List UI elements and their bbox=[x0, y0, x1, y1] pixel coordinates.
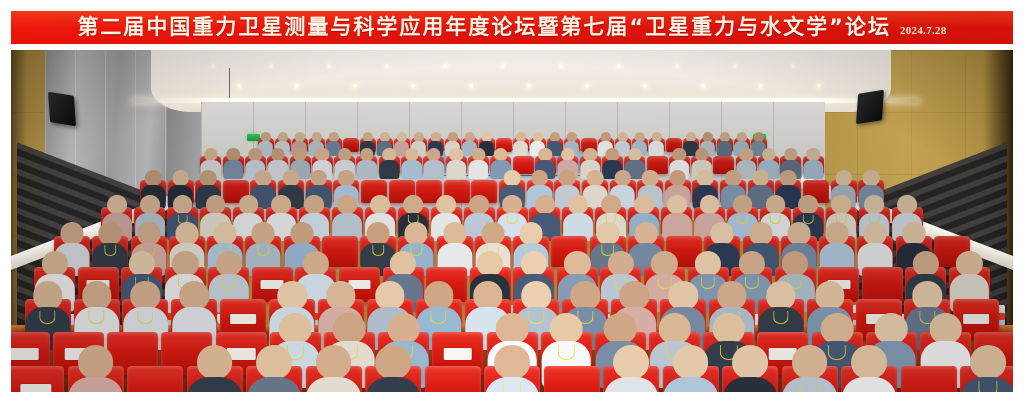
person-head bbox=[239, 195, 259, 214]
person-head bbox=[752, 170, 769, 186]
audience-member bbox=[673, 148, 686, 161]
audience-member bbox=[180, 281, 209, 309]
auditorium-seat[interactable] bbox=[603, 366, 659, 392]
person-head bbox=[875, 313, 908, 344]
audience-member bbox=[766, 281, 795, 309]
audience-member bbox=[807, 148, 820, 161]
audience-member bbox=[379, 132, 389, 142]
auditorium-seat[interactable] bbox=[803, 156, 824, 174]
audience-member bbox=[260, 132, 270, 142]
audience-member bbox=[835, 170, 852, 186]
audience-member bbox=[897, 195, 917, 214]
person-torso bbox=[649, 141, 665, 156]
auditorium-seat[interactable] bbox=[661, 207, 692, 234]
audience-member bbox=[137, 222, 160, 244]
person-head bbox=[792, 345, 828, 379]
audience-member bbox=[956, 251, 982, 276]
audience-member bbox=[387, 313, 420, 344]
audience-member bbox=[752, 170, 769, 186]
lanyard bbox=[528, 311, 544, 324]
person-head bbox=[99, 222, 122, 244]
auditorium-seat[interactable] bbox=[332, 207, 363, 234]
person-head bbox=[740, 148, 753, 161]
person-head bbox=[326, 281, 355, 309]
person-head bbox=[290, 222, 313, 244]
person-head bbox=[200, 170, 217, 186]
audience-member bbox=[303, 251, 329, 276]
person-head bbox=[956, 251, 982, 276]
audience-member bbox=[669, 170, 686, 186]
audience-member bbox=[226, 148, 239, 161]
person-head bbox=[481, 222, 504, 244]
audience-member bbox=[370, 195, 390, 214]
person-head bbox=[41, 251, 67, 276]
auditorium-seat[interactable] bbox=[127, 366, 183, 392]
audience-member bbox=[738, 251, 764, 276]
auditorium-seat[interactable] bbox=[306, 366, 362, 392]
auditorium-seat[interactable] bbox=[960, 366, 1013, 392]
person-head bbox=[539, 148, 552, 161]
audience-member bbox=[667, 195, 687, 214]
auditorium-seat[interactable] bbox=[513, 138, 529, 152]
person-head bbox=[733, 195, 753, 214]
auditorium-seat[interactable] bbox=[819, 236, 855, 267]
audience-member bbox=[634, 195, 654, 214]
audience-member bbox=[436, 195, 456, 214]
person-head bbox=[279, 313, 312, 344]
person-head bbox=[131, 281, 160, 309]
audience-member bbox=[310, 170, 327, 186]
lanyard bbox=[800, 381, 819, 392]
audience-member bbox=[561, 148, 574, 161]
person-head bbox=[370, 195, 390, 214]
audience-member bbox=[515, 132, 525, 142]
audience-member bbox=[712, 313, 745, 344]
auditorium-seat[interactable] bbox=[484, 366, 540, 392]
audience-member bbox=[464, 132, 474, 142]
person-head bbox=[864, 222, 887, 244]
audience-member bbox=[200, 170, 217, 186]
person-head bbox=[613, 345, 649, 379]
banner-date: 2024.7.28 bbox=[900, 25, 947, 37]
audience-member bbox=[619, 281, 648, 309]
auditorium-seat[interactable] bbox=[722, 366, 778, 392]
person-head bbox=[427, 148, 440, 161]
person-head bbox=[571, 281, 600, 309]
audience-member bbox=[792, 345, 828, 379]
person-head bbox=[619, 281, 648, 309]
lanyard bbox=[978, 381, 997, 392]
person-head bbox=[712, 313, 745, 344]
audience-member bbox=[634, 222, 657, 244]
audience-member bbox=[504, 170, 521, 186]
auditorium-seat[interactable] bbox=[901, 366, 957, 392]
person-head bbox=[502, 195, 522, 214]
person-head bbox=[559, 170, 576, 186]
audience-member bbox=[337, 195, 357, 214]
downlight bbox=[701, 84, 705, 88]
downlight bbox=[295, 84, 299, 88]
person-head bbox=[477, 251, 503, 276]
person-head bbox=[897, 195, 917, 214]
audience-member bbox=[469, 195, 489, 214]
auditorium-seat[interactable] bbox=[446, 156, 467, 174]
audience-member bbox=[815, 281, 844, 309]
audience-member bbox=[596, 222, 619, 244]
downlight bbox=[559, 64, 563, 68]
audience-member bbox=[383, 148, 396, 161]
audience-member bbox=[851, 345, 887, 379]
auditorium-seat[interactable] bbox=[562, 207, 593, 234]
downlight bbox=[237, 84, 241, 88]
person-head bbox=[303, 251, 329, 276]
person-head bbox=[216, 251, 242, 276]
audience-member bbox=[571, 281, 600, 309]
downlight bbox=[385, 64, 389, 68]
audience-member bbox=[360, 148, 373, 161]
audience-member bbox=[367, 222, 390, 244]
seat-number-tag bbox=[444, 348, 473, 359]
auditorium-seat[interactable] bbox=[11, 366, 64, 392]
person-head bbox=[214, 222, 237, 244]
audience-member bbox=[601, 195, 621, 214]
person-head bbox=[494, 345, 530, 379]
audience-member bbox=[702, 132, 712, 142]
audience-member bbox=[206, 195, 226, 214]
auditorium-seat[interactable] bbox=[649, 138, 665, 152]
audience-member bbox=[719, 132, 729, 142]
lanyard bbox=[89, 311, 105, 324]
audience-member bbox=[78, 345, 114, 379]
audience-member bbox=[780, 170, 797, 186]
audience-member bbox=[784, 148, 797, 161]
person-torso bbox=[366, 377, 420, 392]
audience-member bbox=[766, 195, 786, 214]
person-head bbox=[249, 148, 262, 161]
downlight bbox=[733, 64, 737, 68]
person-head bbox=[338, 170, 355, 186]
person-head bbox=[604, 313, 637, 344]
seat-row bbox=[11, 267, 1013, 302]
person-head bbox=[137, 222, 160, 244]
person-head bbox=[175, 222, 198, 244]
person-head bbox=[33, 281, 62, 309]
auditorium-seat[interactable] bbox=[857, 236, 893, 267]
audience-member bbox=[481, 222, 504, 244]
audience-member bbox=[375, 345, 411, 379]
audience-member bbox=[481, 132, 491, 142]
audience-member bbox=[447, 132, 457, 142]
audience-member bbox=[140, 195, 160, 214]
person-head bbox=[277, 281, 306, 309]
auditorium-seat[interactable] bbox=[379, 156, 400, 174]
person-head bbox=[383, 148, 396, 161]
lanyard bbox=[507, 215, 518, 224]
auditorium-seat[interactable] bbox=[423, 156, 444, 174]
audience-member bbox=[214, 222, 237, 244]
person-head bbox=[140, 195, 160, 214]
person-head bbox=[375, 345, 411, 379]
person-head bbox=[568, 195, 588, 214]
person-head bbox=[628, 148, 641, 161]
audience-member bbox=[617, 132, 627, 142]
audience-member bbox=[787, 222, 810, 244]
audience-member bbox=[328, 132, 338, 142]
audience-member bbox=[863, 170, 880, 186]
auditorium-seat[interactable] bbox=[717, 138, 733, 152]
auditorium-seat[interactable] bbox=[949, 267, 990, 302]
auditorium-seat[interactable] bbox=[187, 366, 243, 392]
auditorium-seat[interactable] bbox=[401, 156, 422, 174]
audience-member bbox=[326, 281, 355, 309]
person-head bbox=[338, 148, 351, 161]
banner-title: 第二届中国重力卫星测量与科学应用年度论坛暨第七届“卫星重力与水文学”论坛 bbox=[77, 17, 891, 38]
audience-member bbox=[700, 195, 720, 214]
audience-member bbox=[762, 148, 775, 161]
person-torso bbox=[468, 160, 488, 179]
audience-member bbox=[427, 148, 440, 161]
person-head bbox=[180, 281, 209, 309]
audience-member bbox=[733, 195, 753, 214]
person-head bbox=[520, 222, 543, 244]
person-head bbox=[725, 170, 742, 186]
downlight bbox=[817, 84, 821, 88]
person-head bbox=[405, 148, 418, 161]
audience-member bbox=[559, 170, 576, 186]
person-head bbox=[596, 222, 619, 244]
person-head bbox=[436, 195, 456, 214]
auditorium-seat[interactable] bbox=[425, 366, 481, 392]
audience-member bbox=[740, 148, 753, 161]
audience-member bbox=[216, 251, 242, 276]
person-head bbox=[522, 281, 551, 309]
auditorium-seat[interactable] bbox=[782, 366, 838, 392]
seat-row bbox=[11, 366, 1013, 392]
person-torso bbox=[604, 377, 658, 392]
downlight bbox=[759, 84, 763, 88]
auditorium-seat[interactable] bbox=[468, 156, 489, 174]
person-head bbox=[913, 281, 942, 309]
person-head bbox=[333, 313, 366, 344]
audience-member bbox=[521, 251, 547, 276]
downlight bbox=[527, 84, 531, 88]
audience-member bbox=[472, 148, 485, 161]
person-torso bbox=[68, 377, 122, 392]
downlight bbox=[211, 64, 215, 68]
audience-member bbox=[294, 132, 304, 142]
person-torso bbox=[446, 160, 466, 179]
person-head bbox=[913, 251, 939, 276]
audience-member bbox=[362, 132, 372, 142]
person-head bbox=[61, 222, 84, 244]
person-head bbox=[561, 148, 574, 161]
audience-member bbox=[197, 345, 233, 379]
audience-member bbox=[443, 222, 466, 244]
person-head bbox=[732, 345, 768, 379]
audience-member bbox=[520, 222, 543, 244]
person-head bbox=[807, 148, 820, 161]
audience-member bbox=[531, 170, 548, 186]
downlight bbox=[353, 84, 357, 88]
audience-member bbox=[749, 222, 772, 244]
person-head bbox=[608, 251, 634, 276]
audience-member bbox=[413, 132, 423, 142]
person-head bbox=[658, 313, 691, 344]
auditorium-seat[interactable] bbox=[356, 156, 377, 174]
auditorium-seat[interactable] bbox=[92, 236, 128, 267]
audience-member bbox=[604, 313, 637, 344]
audience-member bbox=[272, 195, 292, 214]
audience-member bbox=[970, 345, 1006, 379]
person-torso bbox=[223, 160, 243, 179]
person-head bbox=[583, 148, 596, 161]
audience-member bbox=[502, 195, 522, 214]
person-head bbox=[316, 345, 352, 379]
person-head bbox=[337, 195, 357, 214]
person-head bbox=[614, 170, 631, 186]
audience-member bbox=[913, 281, 942, 309]
audience-member bbox=[522, 281, 551, 309]
auditorium-seat[interactable] bbox=[208, 267, 249, 302]
audience-member bbox=[606, 148, 619, 161]
audience-member bbox=[658, 313, 691, 344]
audience-member bbox=[33, 281, 62, 309]
seat-row bbox=[11, 236, 1013, 267]
audience-member bbox=[239, 195, 259, 214]
audience-member bbox=[831, 195, 851, 214]
audience-member bbox=[107, 195, 127, 214]
audience-member bbox=[256, 345, 292, 379]
person-head bbox=[673, 345, 709, 379]
downlight bbox=[585, 84, 589, 88]
person-head bbox=[469, 195, 489, 214]
audience-member bbox=[277, 132, 287, 142]
audience-member bbox=[673, 345, 709, 379]
person-torso bbox=[717, 141, 733, 156]
audience-member bbox=[277, 281, 306, 309]
person-head bbox=[700, 195, 720, 214]
person-head bbox=[831, 195, 851, 214]
audience-member bbox=[405, 148, 418, 161]
person-head bbox=[564, 251, 590, 276]
downlight bbox=[643, 84, 647, 88]
audience-member bbox=[430, 132, 440, 142]
audience-member bbox=[614, 170, 631, 186]
person-head bbox=[78, 345, 114, 379]
person-head bbox=[668, 281, 697, 309]
person-torso bbox=[723, 377, 777, 392]
person-head bbox=[271, 148, 284, 161]
audience-member bbox=[799, 195, 819, 214]
auditorium-seat[interactable] bbox=[663, 366, 719, 392]
lanyard bbox=[737, 215, 748, 224]
audience-member bbox=[651, 251, 677, 276]
downlight bbox=[411, 84, 415, 88]
person-head bbox=[172, 170, 189, 186]
audience-member bbox=[587, 170, 604, 186]
audience-member bbox=[736, 132, 746, 142]
audience-member bbox=[732, 345, 768, 379]
wall-speaker-left bbox=[48, 92, 76, 127]
person-head bbox=[145, 170, 162, 186]
auditorium-seat[interactable] bbox=[68, 366, 124, 392]
person-head bbox=[815, 281, 844, 309]
lanyard bbox=[502, 381, 521, 392]
audience-member bbox=[390, 251, 416, 276]
auditorium-seat[interactable] bbox=[246, 366, 302, 392]
audience-member bbox=[583, 148, 596, 161]
audience-member bbox=[875, 313, 908, 344]
person-head bbox=[864, 195, 884, 214]
person-head bbox=[851, 345, 887, 379]
auditorium-seat[interactable] bbox=[365, 366, 421, 392]
audience-member bbox=[249, 148, 262, 161]
audience-member bbox=[316, 148, 329, 161]
person-head bbox=[82, 281, 111, 309]
person-head bbox=[360, 148, 373, 161]
audience-member bbox=[496, 313, 529, 344]
audience-member bbox=[61, 222, 84, 244]
audience-member bbox=[613, 345, 649, 379]
person-head bbox=[504, 170, 521, 186]
person-head bbox=[651, 251, 677, 276]
person-torso bbox=[424, 160, 444, 179]
person-torso bbox=[357, 160, 377, 179]
audience-member bbox=[338, 148, 351, 161]
auditorium-seat[interactable] bbox=[245, 236, 281, 267]
person-head bbox=[717, 281, 746, 309]
audience-member bbox=[608, 251, 634, 276]
person-head bbox=[821, 313, 854, 344]
person-torso bbox=[401, 160, 421, 179]
person-head bbox=[634, 222, 657, 244]
audience-member bbox=[129, 251, 155, 276]
downlight bbox=[791, 64, 795, 68]
auditorium-seat[interactable] bbox=[862, 267, 903, 302]
audience-member bbox=[477, 251, 503, 276]
audience-member bbox=[564, 251, 590, 276]
auditorium-seat[interactable] bbox=[223, 156, 244, 174]
person-torso bbox=[803, 160, 823, 179]
person-head bbox=[472, 148, 485, 161]
person-torso bbox=[379, 160, 399, 179]
person-head bbox=[673, 148, 686, 161]
audience-member bbox=[204, 148, 217, 161]
seat-row bbox=[11, 138, 1013, 152]
audience-member bbox=[311, 132, 321, 142]
person-head bbox=[697, 170, 714, 186]
auditorium-seat[interactable] bbox=[544, 366, 600, 392]
lanyard bbox=[557, 345, 575, 359]
audience-member bbox=[255, 170, 272, 186]
audience-member bbox=[494, 345, 530, 379]
person-head bbox=[531, 170, 548, 186]
person-head bbox=[780, 170, 797, 186]
person-head bbox=[256, 345, 292, 379]
audience-member bbox=[634, 132, 644, 142]
auditorium-seat[interactable] bbox=[437, 236, 473, 267]
audience-member bbox=[99, 222, 122, 244]
audience-member bbox=[685, 132, 695, 142]
audience-member bbox=[172, 251, 198, 276]
auditorium-seat[interactable] bbox=[841, 366, 897, 392]
lanyard bbox=[773, 311, 789, 324]
audience-member bbox=[535, 195, 555, 214]
ceiling-mount-rod bbox=[229, 68, 230, 98]
person-head bbox=[535, 195, 555, 214]
person-head bbox=[669, 170, 686, 186]
seat-number-tag bbox=[20, 384, 51, 392]
